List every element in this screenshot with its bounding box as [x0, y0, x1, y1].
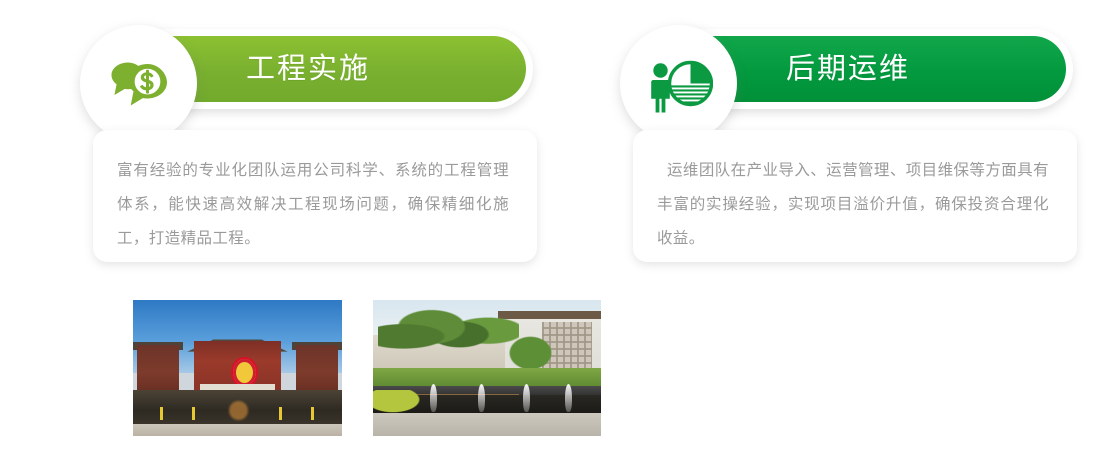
card-title-post-operation-maintenance: 后期运维	[786, 55, 910, 84]
card-header-engineering-implementation: 工程实施	[97, 29, 533, 109]
card-header-post-operation-maintenance: 后期运维	[637, 29, 1073, 109]
icon-badge-engineering-implementation	[80, 25, 197, 142]
money-chat-bubbles-icon	[106, 54, 172, 114]
service-card-engineering-implementation: 工程实施	[40, 0, 540, 449]
chinese-courtyard-reflecting-pool-photo[interactable]	[133, 300, 342, 436]
icon-badge-post-operation-maintenance	[620, 25, 737, 142]
card-description-post-operation-maintenance: 运维团队在产业导入、运营管理、项目维保等方面具有丰富的实操经验，实现项目溢价升值…	[657, 154, 1049, 256]
photo-artwork	[373, 300, 601, 436]
card-body-panel-post-operation-maintenance: 运维团队在产业导入、运营管理、项目维保等方面具有丰富的实操经验，实现项目溢价升值…	[633, 130, 1077, 262]
service-card-post-operation-maintenance: 后期运维	[580, 0, 1080, 449]
card-description-engineering-implementation: 富有经验的专业化团队运用公司科学、系统的工程管理体系，能快速高效解决工程现场问题…	[117, 154, 509, 256]
thumbnail-row-engineering-implementation	[93, 284, 537, 420]
photo-artwork	[133, 300, 342, 436]
card-title-engineering-implementation: 工程实施	[246, 55, 370, 84]
service-cards-board: 工程实施	[0, 0, 1102, 449]
card-body-panel-engineering-implementation: 富有经验的专业化团队运用公司科学、系统的工程管理体系，能快速高效解决工程现场问题…	[93, 130, 537, 262]
modern-landscape-garden-fountain-photo[interactable]	[373, 300, 601, 436]
person-presenting-pie-chart-icon	[645, 52, 713, 116]
